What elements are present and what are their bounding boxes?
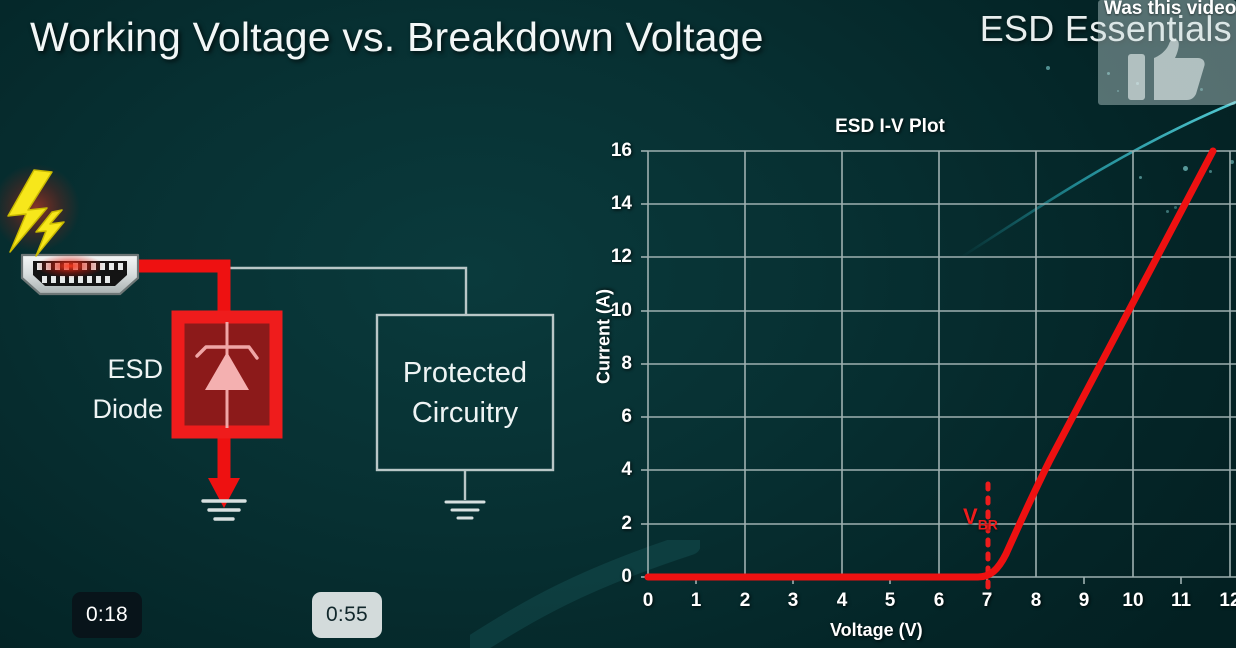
y-tick-8: 8 [592,353,632,375]
chart-x-axis-label: Voltage (V) [830,620,923,641]
chart-plot-area [580,108,1236,608]
y-tick-2: 2 [592,513,632,535]
lightning-bolt-icon [0,164,80,256]
svg-text:ESD: ESD [107,354,163,384]
video-survey-overlay[interactable]: Was this video [1098,0,1236,105]
x-tick-1: 1 [676,590,716,612]
hdmi-connector [22,254,138,294]
slide-canvas: Working Voltage vs. Breakdown Voltage ES… [0,0,1236,648]
y-tick-10: 10 [592,300,632,322]
thumbs-up-icon[interactable] [1128,38,1206,100]
chart-gridlines [648,151,1236,577]
x-tick-10: 10 [1113,590,1153,612]
esd-protection-circuit-diagram: ESD Diode Protected Circuitry [0,160,600,560]
survey-prompt: Was this video [1104,0,1236,20]
x-tick-4: 4 [822,590,862,612]
y-tick-4: 4 [592,459,632,481]
svg-text:Circuitry: Circuitry [412,397,519,429]
svg-text:Protected: Protected [403,357,527,389]
breakdown-voltage-label: VBR [963,504,998,532]
x-tick-2: 2 [725,590,765,612]
current-time-chip[interactable]: 0:18 [72,592,142,638]
ground-symbol-protected [446,502,484,518]
x-tick-6: 6 [919,590,959,612]
x-tick-9: 9 [1064,590,1104,612]
y-tick-6: 6 [592,406,632,428]
y-tick-0: 0 [592,566,632,588]
x-tick-5: 5 [870,590,910,612]
x-tick-3: 3 [773,590,813,612]
bg-particle [1046,66,1050,70]
signal-wire [138,268,466,315]
x-tick-8: 8 [1016,590,1056,612]
total-time-chip[interactable]: 0:55 [312,592,382,638]
esd-diode-label: ESD Diode [92,354,163,424]
x-tick-7: 7 [967,590,1007,612]
svg-text:Diode: Diode [92,394,163,424]
chart-y-ticks [641,151,648,577]
x-tick-11: 11 [1161,590,1201,612]
x-tick-0: 0 [628,590,668,612]
y-tick-16: 16 [592,140,632,162]
page-title: Working Voltage vs. Breakdown Voltage [30,14,764,61]
x-tick-12: 12 [1210,590,1236,612]
y-tick-14: 14 [592,193,632,215]
vbr-sub: BR [978,516,998,532]
protected-circuitry-block: Protected Circuitry [377,315,553,500]
esd-diode-block [178,317,276,432]
vbr-main: V [963,504,978,529]
esd-iv-chart: ESD I-V Plot Current (A) Voltage (V) [580,108,1236,648]
y-tick-12: 12 [592,246,632,268]
